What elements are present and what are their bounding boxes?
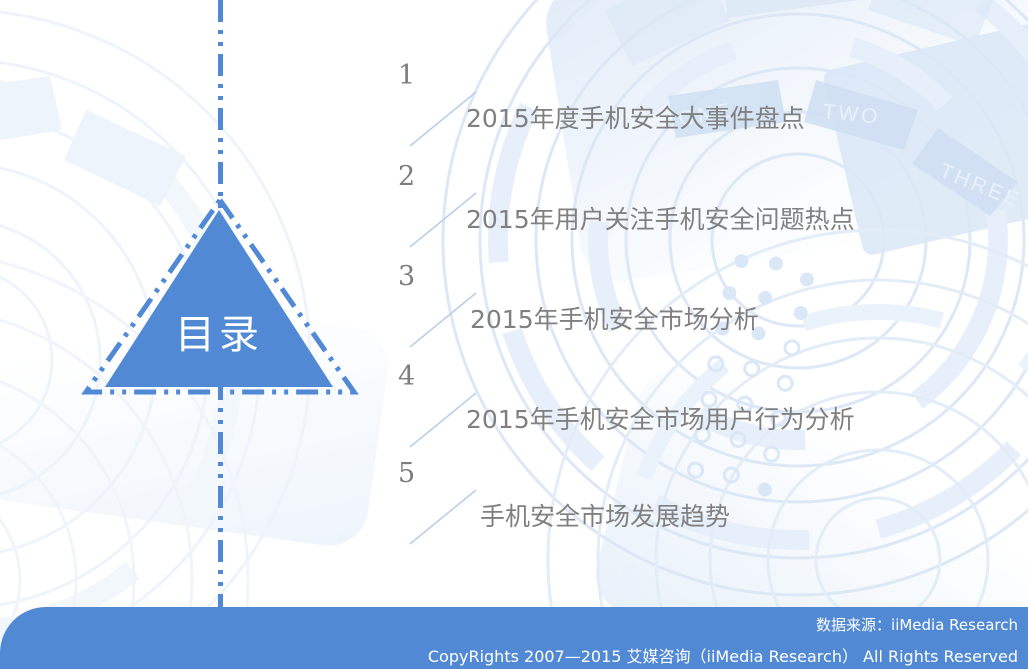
agenda-item-number: 4 [398, 363, 415, 390]
agenda-item-2[interactable]: 2 2015年用户关注手机安全问题热点 [380, 163, 1028, 275]
agenda-item-1[interactable]: 1 2015年度手机安全大事件盘点 [380, 62, 1028, 174]
agenda-item-number: 3 [398, 263, 415, 290]
agenda-item-label: 2015年手机安全市场分析 [470, 306, 759, 334]
footer-data-source: 数据来源：iiMedia Research [816, 614, 1018, 635]
agenda-item-5[interactable]: 5 手机安全市场发展趋势 [380, 460, 1028, 572]
agenda-item-label: 2015年度手机安全大事件盘点 [466, 105, 805, 133]
slash-divider-icon [406, 486, 480, 548]
agenda-item-number: 2 [398, 163, 415, 190]
agenda-item-label: 手机安全市场发展趋势 [480, 503, 730, 531]
agenda-item-label: 2015年用户关注手机安全问题热点 [466, 206, 855, 234]
slash-divider-icon [406, 289, 480, 351]
agenda-item-number: 5 [398, 460, 415, 487]
slide-canvas: ONE TWO THREE [0, 0, 1028, 669]
footer-bar: 数据来源：iiMedia Research CopyRights 2007—20… [0, 607, 1028, 669]
footer-copyright: CopyRights 2007—2015 艾媒咨询（iiMedia Resear… [428, 643, 1018, 667]
agenda-item-label: 2015年手机安全市场用户行为分析 [466, 406, 855, 434]
agenda-item-4[interactable]: 4 2015年手机安全市场用户行为分析 [380, 363, 1028, 475]
section-badge-label: 目录 [105, 315, 333, 355]
agenda-list: 1 2015年度手机安全大事件盘点 2 2015年用户关注手机安全问题热点 3 … [380, 0, 1028, 600]
triangle-badge [105, 210, 333, 387]
agenda-item-number: 1 [398, 62, 415, 89]
agenda-item-3[interactable]: 3 2015年手机安全市场分析 [380, 263, 1028, 375]
